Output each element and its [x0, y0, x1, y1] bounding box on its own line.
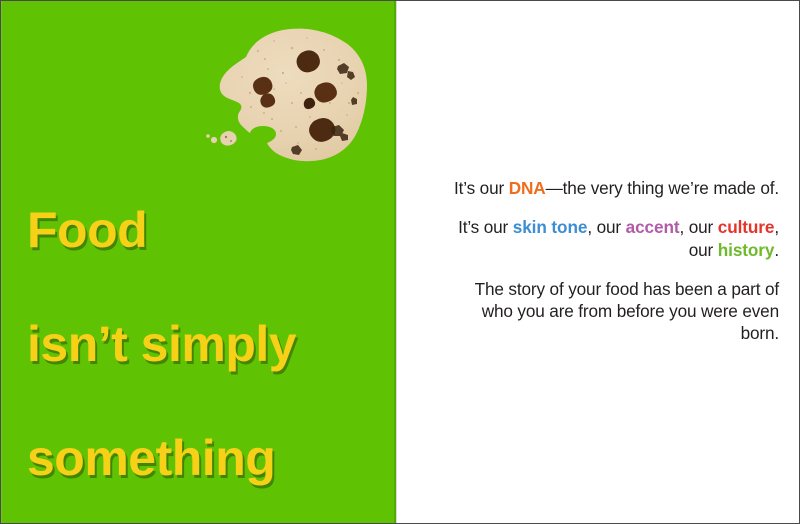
text-run: It’s our	[454, 178, 509, 198]
keyword-dna: DNA	[509, 178, 546, 198]
paragraph-story: The story of your food has been a part o…	[449, 278, 779, 345]
left-page: Food isn’t simply something you eat.	[1, 1, 396, 523]
body-copy: It’s our DNA—the very thing we’re made o…	[449, 177, 779, 345]
headline-line-3: something	[27, 430, 387, 487]
paragraph-dna: It’s our DNA—the very thing we’re made o…	[449, 177, 779, 199]
headline-line-2: isn’t simply	[27, 316, 387, 373]
cookie-crumbs	[206, 131, 236, 146]
book-spread: Food isn’t simply something you eat. It’…	[0, 0, 800, 524]
right-page: It’s our DNA—the very thing we’re made o…	[397, 1, 799, 523]
text-run: —the very thing we’re made of.	[546, 178, 779, 198]
paragraph-identity: It’s our skin tone, our accent, our cult…	[449, 216, 779, 261]
keyword-skin-tone: skin tone	[513, 217, 588, 237]
text-run: , our	[587, 217, 625, 237]
page-headline: Food isn’t simply something you eat.	[27, 145, 387, 524]
keyword-accent: accent	[626, 217, 680, 237]
text-run: , our	[679, 217, 717, 237]
headline-line-1: Food	[27, 202, 387, 259]
text-run: It’s our	[458, 217, 513, 237]
keyword-culture: culture	[718, 217, 775, 237]
keyword-history: history	[718, 240, 775, 260]
text-run: .	[774, 240, 779, 260]
